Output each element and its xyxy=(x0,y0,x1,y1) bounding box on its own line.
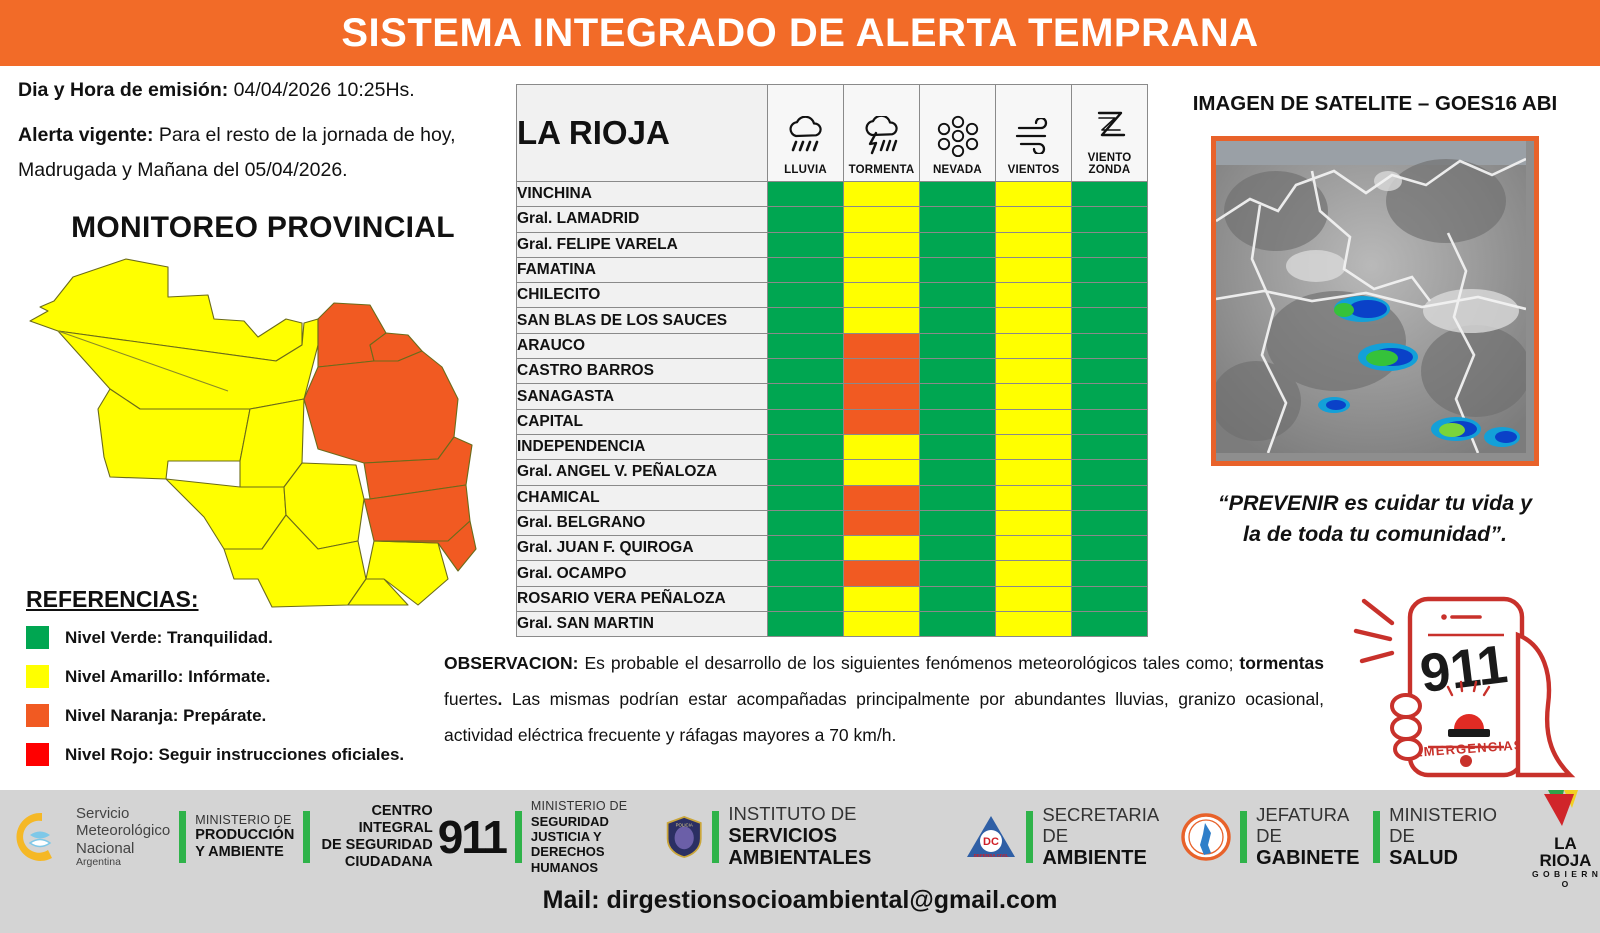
alert-cell-nevada xyxy=(920,182,996,207)
alert-cell-nevada xyxy=(920,384,996,409)
svg-text:POLICIA: POLICIA xyxy=(676,823,693,828)
table-row: ARAUCO xyxy=(517,333,1148,358)
department-name: Gral. JUAN F. QUIROGA xyxy=(517,536,768,561)
alert-cell-tormenta xyxy=(844,460,920,485)
divider xyxy=(1373,811,1380,863)
smn-line-4: Argentina xyxy=(76,857,170,869)
logo-bold-line: JUSTICIA Y xyxy=(531,829,657,844)
smn-logo-icon xyxy=(14,809,70,865)
zonda-wind-icon xyxy=(1072,96,1147,152)
alert-cell-vientos xyxy=(996,536,1072,561)
department-name: CHILECITO xyxy=(517,283,768,308)
table-row: CAPITAL xyxy=(517,409,1148,434)
department-name: Gral. LAMADRID xyxy=(517,207,768,232)
emission-line: Dia y Hora de emisión: 04/04/2026 10:25H… xyxy=(18,78,508,102)
alert-cell-vientos xyxy=(996,232,1072,257)
alert-cell-lluvia xyxy=(768,257,844,282)
legend-swatch-yellow xyxy=(26,665,49,688)
monitoring-title: MONITOREO PROVINCIAL xyxy=(18,211,508,245)
alert-cell-lluvia xyxy=(768,182,844,207)
logo-reg-line: MINISTERIO DE xyxy=(1389,805,1511,846)
logo-bold-line: DE SEGURIDAD xyxy=(319,837,432,854)
alert-cell-nevada xyxy=(920,586,996,611)
alert-cell-tormenta xyxy=(844,283,920,308)
alert-cell-nevada xyxy=(920,308,996,333)
references-legend: REFERENCIAS: Nivel Verde: Tranquilidad. … xyxy=(26,586,456,782)
logo-seguridad-justicia: MINISTERIO DE SEGURIDAD JUSTICIA Y DEREC… xyxy=(531,802,703,872)
alert-cell-nevada xyxy=(920,257,996,282)
alert-cell-viento-zonda xyxy=(1072,384,1148,409)
legend-item: Nivel Amarillo: Infórmate. xyxy=(26,665,456,688)
legend-swatch-red xyxy=(26,743,49,766)
alert-cell-tormenta xyxy=(844,510,920,535)
alert-cell-lluvia xyxy=(768,308,844,333)
alert-cell-tormenta xyxy=(844,586,920,611)
logo-bold-line: SERVICIOS AMBIENTALES xyxy=(728,825,953,870)
alert-cell-lluvia xyxy=(768,384,844,409)
emission-value: 04/04/2026 10:25Hs. xyxy=(228,79,414,101)
legend-label: Nivel Verde: Tranquilidad. xyxy=(65,628,273,648)
alert-cell-viento-zonda xyxy=(1072,586,1148,611)
alert-cell-nevada xyxy=(920,460,996,485)
column-header-vientos: VIENTOS xyxy=(996,85,1072,182)
legend-label: Nivel Naranja: Prepárate. xyxy=(65,706,266,726)
logo-gobierno-seal xyxy=(1181,802,1231,872)
department-name: Gral. FELIPE VARELA xyxy=(517,232,768,257)
table-row: SAN BLAS DE LOS SAUCES xyxy=(517,308,1148,333)
references-title: REFERENCIAS: xyxy=(26,586,456,613)
alert-cell-viento-zonda xyxy=(1072,333,1148,358)
logo-reg-line: JEFATURA DE xyxy=(1256,805,1364,846)
logo-bold-line: CIUDADANA xyxy=(319,854,432,871)
legend-item: Nivel Rojo: Seguir instrucciones oficial… xyxy=(26,743,456,766)
alert-cell-vientos xyxy=(996,485,1072,510)
alert-cell-vientos xyxy=(996,333,1072,358)
department-name: CAPITAL xyxy=(517,409,768,434)
rain-icon xyxy=(768,108,843,164)
alert-cell-lluvia xyxy=(768,561,844,586)
legend-swatch-orange xyxy=(26,704,49,727)
logo-bold-line: SALUD xyxy=(1389,847,1511,869)
alert-cell-lluvia xyxy=(768,232,844,257)
alert-cell-lluvia xyxy=(768,207,844,232)
emission-label: Dia y Hora de emisión: xyxy=(18,79,228,101)
province-map-svg xyxy=(18,249,488,609)
alert-cell-vientos xyxy=(996,384,1072,409)
alert-cell-nevada xyxy=(920,561,996,586)
alert-table-wrapper: LA RIOJA LLUVIA xyxy=(516,84,1144,637)
logo-reg-line: INSTITUTO DE xyxy=(728,804,953,825)
alert-cell-viento-zonda xyxy=(1072,207,1148,232)
table-row: CHILECITO xyxy=(517,283,1148,308)
logo-reg-line: SECRETARIA DE xyxy=(1042,805,1171,846)
table-row: Gral. LAMADRID xyxy=(517,207,1148,232)
divider xyxy=(1026,811,1033,863)
alert-cell-tormenta xyxy=(844,359,920,384)
alert-cell-lluvia xyxy=(768,485,844,510)
alert-cell-viento-zonda xyxy=(1072,232,1148,257)
svg-text:DC: DC xyxy=(983,836,999,848)
department-name: Gral. OCAMPO xyxy=(517,561,768,586)
department-name: INDEPENDENCIA xyxy=(517,434,768,459)
contact-mail[interactable]: Mail: dirgestionsocioambiental@gmail.com xyxy=(0,886,1600,915)
table-row: ROSARIO VERA PEÑALOZA xyxy=(517,586,1148,611)
logo-defensa-civil: DC DEFENSA CIVIL xyxy=(965,802,1017,872)
divider xyxy=(179,811,186,863)
column-label: VIENTOS xyxy=(996,164,1071,181)
quote-line-2: la de toda tu comunidad”. xyxy=(1160,519,1590,550)
alert-cell-tormenta xyxy=(844,434,920,459)
alert-cell-nevada xyxy=(920,510,996,535)
column-header-viento-zonda: VIENTO ZONDA xyxy=(1072,85,1148,182)
alert-table-body: VINCHINAGral. LAMADRIDGral. FELIPE VAREL… xyxy=(517,182,1148,637)
alert-cell-tormenta xyxy=(844,232,920,257)
smn-line-2: Meteorológico xyxy=(76,822,170,839)
alert-cell-nevada xyxy=(920,536,996,561)
table-row: Gral. ANGEL V. PEÑALOZA xyxy=(517,460,1148,485)
department-name: SANAGASTA xyxy=(517,384,768,409)
alert-cell-lluvia xyxy=(768,409,844,434)
province-header: LA RIOJA xyxy=(517,85,768,182)
logo-bold-line: SEGURIDAD xyxy=(531,814,657,829)
alert-cell-nevada xyxy=(920,359,996,384)
table-row: Gral. OCAMPO xyxy=(517,561,1148,586)
department-name: Gral. BELGRANO xyxy=(517,510,768,535)
alert-cell-tormenta xyxy=(844,561,920,586)
alert-cell-viento-zonda xyxy=(1072,182,1148,207)
logo-bold-line: AMBIENTE xyxy=(1042,847,1171,869)
department-name: FAMATINA xyxy=(517,257,768,282)
alert-cell-vientos xyxy=(996,434,1072,459)
observation-part1: Es probable el desarrollo de los siguien… xyxy=(579,653,1240,673)
observation-bold1: tormentas xyxy=(1239,653,1324,673)
department-name: SAN BLAS DE LOS SAUCES xyxy=(517,308,768,333)
app-title-bar: SISTEMA INTEGRADO DE ALERTA TEMPRANA xyxy=(0,0,1600,66)
alert-cell-vientos xyxy=(996,460,1072,485)
divider xyxy=(1240,811,1247,863)
quote-line-1: “PREVENIR es cuidar tu vida y xyxy=(1160,488,1590,519)
table-row: INDEPENDENCIA xyxy=(517,434,1148,459)
alert-cell-tormenta xyxy=(844,257,920,282)
alert-cell-nevada xyxy=(920,207,996,232)
observation-label: OBSERVACION: xyxy=(444,653,579,673)
alert-cell-tormenta xyxy=(844,384,920,409)
observation-text: OBSERVACION: Es probable el desarrollo d… xyxy=(444,645,1324,753)
alert-cell-viento-zonda xyxy=(1072,460,1148,485)
logo-instituto-servicios-ambientales: INSTITUTO DE SERVICIOS AMBIENTALES xyxy=(728,802,953,872)
logo-small-line: MINISTERIO DE xyxy=(531,799,657,814)
alert-cell-nevada xyxy=(920,485,996,510)
divider xyxy=(712,811,719,863)
alert-cell-vientos xyxy=(996,182,1072,207)
logo-secretaria-ambiente: SECRETARIA DE AMBIENTE xyxy=(1042,802,1171,872)
table-row: VINCHINA xyxy=(517,182,1148,207)
table-row: CHAMICAL xyxy=(517,485,1148,510)
department-name: CHAMICAL xyxy=(517,485,768,510)
satellite-image xyxy=(1211,136,1539,466)
department-name: VINCHINA xyxy=(517,182,768,207)
emergency-911-graphic: 911 EMERGENCIAS xyxy=(1348,583,1588,783)
alert-cell-viento-zonda xyxy=(1072,308,1148,333)
logo-bold-line: Y AMBIENTE xyxy=(195,844,294,861)
column-header-lluvia: LLUVIA xyxy=(768,85,844,182)
smn-line-3: Nacional xyxy=(76,840,170,857)
alert-cell-viento-zonda xyxy=(1072,434,1148,459)
column-label: TORMENTA xyxy=(844,164,919,181)
table-row: SANAGASTA xyxy=(517,384,1148,409)
table-row: Gral. JUAN F. QUIROGA xyxy=(517,536,1148,561)
logo-bold-line: DERECHOS HUMANOS xyxy=(531,844,657,875)
alert-table: LA RIOJA LLUVIA xyxy=(516,84,1148,637)
alert-cell-tormenta xyxy=(844,485,920,510)
alert-cell-lluvia xyxy=(768,612,844,637)
alert-cell-tormenta xyxy=(844,612,920,637)
logo-ministerio-salud: MINISTERIO DE SALUD xyxy=(1389,802,1511,872)
alert-cell-vientos xyxy=(996,308,1072,333)
alert-cell-tormenta xyxy=(844,308,920,333)
emergency-number: 911 xyxy=(1417,634,1511,704)
alert-cell-vientos xyxy=(996,561,1072,586)
alert-cell-viento-zonda xyxy=(1072,257,1148,282)
alert-cell-nevada xyxy=(920,333,996,358)
alert-cell-nevada xyxy=(920,232,996,257)
table-row: Gral. BELGRANO xyxy=(517,510,1148,535)
alert-cell-vientos xyxy=(996,510,1072,535)
alert-cell-vientos xyxy=(996,586,1072,611)
alert-cell-viento-zonda xyxy=(1072,485,1148,510)
legend-item: Nivel Naranja: Prepárate. xyxy=(26,704,456,727)
satellite-image-svg xyxy=(1216,141,1526,453)
alert-cell-viento-zonda xyxy=(1072,359,1148,384)
alert-cell-vientos xyxy=(996,359,1072,384)
table-header-row: LA RIOJA LLUVIA xyxy=(517,85,1148,182)
alert-cell-nevada xyxy=(920,434,996,459)
alert-cell-lluvia xyxy=(768,536,844,561)
la-rioja-title: LA RIOJA xyxy=(1531,835,1600,869)
table-row: Gral. FELIPE VARELA xyxy=(517,232,1148,257)
alert-cell-tormenta xyxy=(844,536,920,561)
alert-cell-lluvia xyxy=(768,586,844,611)
alert-cell-lluvia xyxy=(768,359,844,384)
department-name: ROSARIO VERA PEÑALOZA xyxy=(517,586,768,611)
legend-swatch-green xyxy=(26,626,49,649)
satellite-panel: IMAGEN DE SATELITE – GOES16 ABI xyxy=(1160,92,1590,550)
alert-cell-vientos xyxy=(996,207,1072,232)
footer-logo-strip: Servicio Meteorológico Nacional Argentin… xyxy=(0,798,1600,876)
table-row: CASTRO BARROS xyxy=(517,359,1148,384)
province-map xyxy=(18,249,488,609)
legend-label: Nivel Amarillo: Infórmate. xyxy=(65,667,270,687)
alert-cell-vientos xyxy=(996,409,1072,434)
divider xyxy=(515,811,522,863)
alert-cell-nevada xyxy=(920,283,996,308)
alert-cell-tormenta xyxy=(844,409,920,434)
alert-cell-lluvia xyxy=(768,333,844,358)
department-name: ARAUCO xyxy=(517,333,768,358)
department-name: Gral. SAN MARTIN xyxy=(517,612,768,637)
legend-item: Nivel Verde: Tranquilidad. xyxy=(26,626,456,649)
alert-cell-vientos xyxy=(996,257,1072,282)
footer: Servicio Meteorológico Nacional Argentin… xyxy=(0,790,1600,933)
table-row: FAMATINA xyxy=(517,257,1148,282)
defensa-civil-icon: DC DEFENSA CIVIL xyxy=(965,813,1017,861)
alert-cell-tormenta xyxy=(844,333,920,358)
alert-cell-viento-zonda xyxy=(1072,612,1148,637)
logo-bold-line: PRODUCCIÓN xyxy=(195,827,294,844)
alert-cell-viento-zonda xyxy=(1072,409,1148,434)
logo-911-number: 911 xyxy=(438,810,506,864)
alert-cell-lluvia xyxy=(768,510,844,535)
column-header-nevada: NEVADA xyxy=(920,85,996,182)
alert-cell-viento-zonda xyxy=(1072,561,1148,586)
alert-cell-vientos xyxy=(996,283,1072,308)
logo-small-line: MINISTERIO DE xyxy=(195,813,294,828)
observation-part3: Las mismas podrían estar acompañadas pri… xyxy=(444,689,1324,745)
table-row: Gral. SAN MARTIN xyxy=(517,612,1148,637)
alert-cell-nevada xyxy=(920,409,996,434)
alert-cell-lluvia xyxy=(768,434,844,459)
column-label: NEVADA xyxy=(920,164,995,181)
divider xyxy=(303,811,310,863)
observation-part2: fuertes xyxy=(444,689,498,709)
prevention-quote: “PREVENIR es cuidar tu vida y la de toda… xyxy=(1160,488,1590,550)
logo-bold-line: GABINETE xyxy=(1256,847,1364,869)
alert-cell-tormenta xyxy=(844,182,920,207)
column-label: LLUVIA xyxy=(768,164,843,181)
legend-label: Nivel Rojo: Seguir instrucciones oficial… xyxy=(65,745,404,765)
snow-icon xyxy=(920,108,995,164)
logo-centro-integral-911: CENTRO INTEGRAL DE SEGURIDAD CIUDADANA 9… xyxy=(319,802,506,872)
alert-cell-tormenta xyxy=(844,207,920,232)
column-label: VIENTO ZONDA xyxy=(1072,152,1147,181)
logo-produccion-ambiente: MINISTERIO DE PRODUCCIÓN Y AMBIENTE xyxy=(195,802,294,872)
la-rioja-flag-icon xyxy=(1538,786,1592,830)
department-name: CASTRO BARROS xyxy=(517,359,768,384)
alert-cell-lluvia xyxy=(768,283,844,308)
police-shield-icon: POLICIA xyxy=(665,812,703,862)
alert-label: Alerta vigente: xyxy=(18,124,153,146)
alert-cell-viento-zonda xyxy=(1072,283,1148,308)
wind-icon xyxy=(996,108,1071,164)
smn-line-1: Servicio xyxy=(76,805,170,822)
alert-cell-viento-zonda xyxy=(1072,536,1148,561)
logo-la-rioja-gobierno: LA RIOJA G O B I E R N O xyxy=(1531,802,1600,872)
government-seal-icon xyxy=(1181,812,1231,862)
svg-text:DEFENSA CIVIL: DEFENSA CIVIL xyxy=(974,853,1009,858)
logo-smn: Servicio Meteorológico Nacional Argentin… xyxy=(14,802,170,872)
satellite-title: IMAGEN DE SATELITE – GOES16 ABI xyxy=(1160,92,1590,116)
alert-cell-nevada xyxy=(920,612,996,637)
logo-jefatura-gabinete: JEFATURA DE GABINETE xyxy=(1256,802,1364,872)
alert-cell-viento-zonda xyxy=(1072,510,1148,535)
alert-line: Alerta vigente: Para el resto de la jorn… xyxy=(18,118,508,186)
alert-cell-lluvia xyxy=(768,460,844,485)
department-name: Gral. ANGEL V. PEÑALOZA xyxy=(517,460,768,485)
storm-icon xyxy=(844,108,919,164)
page-title: SISTEMA INTEGRADO DE ALERTA TEMPRANA xyxy=(341,11,1258,56)
alert-cell-vientos xyxy=(996,612,1072,637)
logo-bold-line: CENTRO INTEGRAL xyxy=(319,803,432,837)
column-header-tormenta: TORMENTA xyxy=(844,85,920,182)
